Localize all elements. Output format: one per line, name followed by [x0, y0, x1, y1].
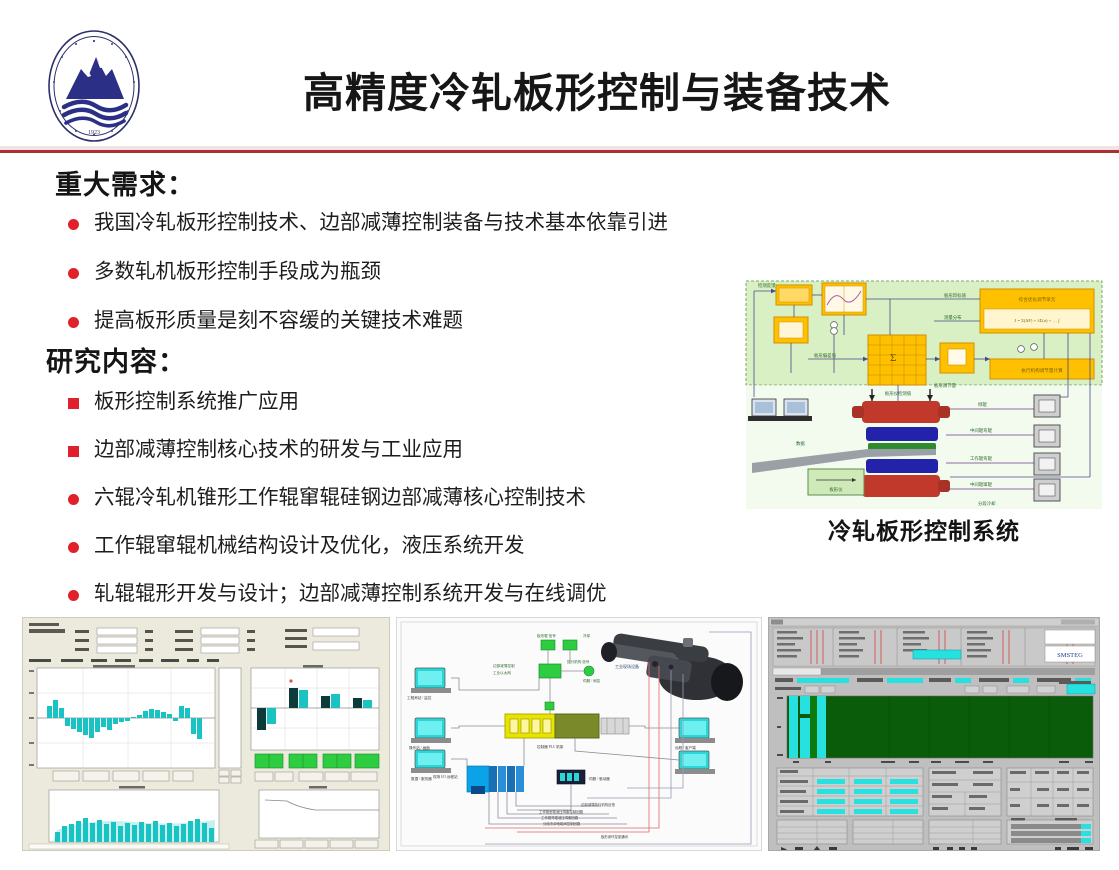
- svg-text:远程 / 客户端: 远程 / 客户端: [675, 745, 696, 750]
- svg-text:SMSTEG: SMSTEG: [1057, 652, 1083, 659]
- page-title: 高精度冷轧板形控制与装备技术: [272, 60, 922, 126]
- list-item: 工作辊窜辊机械结构设计及优化，液压系统开发: [60, 536, 607, 557]
- svg-text:控制器 PLC 机架: 控制器 PLC 机架: [537, 744, 564, 749]
- edge-drop-control-scada-panel-screenshot: SMSTEG: [768, 617, 1100, 851]
- list-item: 轧辊辊形开发与设计；边部减薄控制系统开发与在线调优: [60, 584, 607, 605]
- list-item-label: 边部减薄控制核心技术的研发与工业应用: [94, 438, 463, 461]
- svg-text:分段冷却: 分段冷却: [978, 500, 996, 507]
- list-item-label: 板形控制系统推广应用: [94, 390, 299, 413]
- bullet-round-icon: [68, 590, 79, 601]
- svg-text:板形仪: 板形仪: [829, 486, 843, 493]
- svg-text:数据: 数据: [796, 440, 805, 447]
- svg-text:工程师站 / 监控: 工程师站 / 监控: [407, 695, 432, 700]
- major-need-list: 我国冷轧板形控制技术、边部减薄控制装备与技术基本依靠引进 多数轧机板形控制手段成…: [60, 213, 668, 360]
- list-item: 边部减薄控制核心技术的研发与工业应用: [60, 440, 607, 461]
- svg-text:检测反馈: 检测反馈: [758, 282, 776, 289]
- svg-text:执行机构 信号: 执行机构 信号: [567, 659, 590, 664]
- svg-text:边部减薄控制: 边部减薄控制: [493, 663, 515, 668]
- svg-text:板形目标值: 板形目标值: [944, 292, 967, 299]
- list-item: 多数轧机板形控制手段成为瓶颈: [60, 262, 668, 283]
- svg-text:冷却: 冷却: [583, 633, 591, 638]
- header-divider: [0, 150, 1119, 153]
- svg-text:伺服 / 阀控: 伺服 / 阀控: [583, 678, 601, 683]
- northeastern-university-emblem-icon: 1923: [36, 27, 152, 145]
- svg-text:综合优化调节单元: 综合优化调节单元: [1019, 296, 1056, 303]
- diagram-caption: 冷轧板形控制系统: [738, 512, 1110, 546]
- section-heading-research-content: 研究内容：: [46, 340, 186, 379]
- svg-text:工作辊窜辊液压伺服控制回路: 工作辊窜辊液压伺服控制回路: [539, 809, 584, 814]
- list-item: 六辊冷轧机锥形工作辊窜辊硅钢边部减薄核心控制技术: [60, 488, 607, 509]
- bullet-round-icon: [68, 219, 79, 230]
- list-item: 板形控制系统推广应用: [60, 392, 607, 413]
- bullet-round-icon: [68, 542, 79, 553]
- bullet-round-icon: [68, 494, 79, 505]
- slide-root: 1923 高精度冷轧板形控制与装备技术 重大需求： 我国冷轧板形控制技术、边部减…: [0, 0, 1119, 870]
- svg-text:执行机构调节量计算: 执行机构调节量计算: [1021, 367, 1063, 374]
- list-item: 我国冷轧板形控制技术、边部减薄控制装备与技术基本依靠引进: [60, 213, 668, 234]
- bullet-square-icon: [68, 398, 79, 409]
- list-item-label: 多数轧机板形控制手段成为瓶颈: [94, 260, 381, 283]
- list-item-label: 轧辊辊形开发与设计；边部减薄控制系统开发与在线调优: [94, 582, 607, 605]
- bullet-square-icon: [68, 446, 79, 457]
- bullet-round-icon: [68, 268, 79, 279]
- svg-text:工作辊弯辊: 工作辊弯辊: [970, 455, 993, 462]
- svg-text:中间辊弯辊: 中间辊弯辊: [970, 427, 993, 434]
- svg-text:操作站 / 画面: 操作站 / 画面: [409, 745, 430, 750]
- svg-text:倾辊: 倾辊: [978, 401, 987, 408]
- bullet-round-icon: [68, 317, 79, 328]
- svg-text:数据 / 服务器: 数据 / 服务器: [411, 776, 432, 781]
- research-content-list: 板形控制系统推广应用 边部减薄控制核心技术的研发与工业应用 六辊冷轧机锥形工作辊…: [60, 392, 607, 632]
- shape-measurement-hmi-screenshot: [22, 617, 390, 851]
- svg-text:1923: 1923: [88, 130, 100, 136]
- svg-text:边部减薄执行机构反馈: 边部减薄执行机构反馈: [581, 802, 616, 807]
- svg-text:板形调节量: 板形调节量: [934, 382, 957, 389]
- svg-text:测量分布: 测量分布: [944, 314, 962, 321]
- list-item-label: 我国冷轧板形控制技术、边部减薄控制装备与技术基本依靠引进: [94, 211, 668, 234]
- list-item-label: 六辊冷轧机锥形工作辊窜辊硅钢边部减薄核心控制技术: [94, 486, 586, 509]
- svg-text:Σ: Σ: [890, 352, 896, 364]
- svg-text:中间辊窜辊: 中间辊窜辊: [970, 481, 993, 488]
- svg-text:工业现场设备: 工业现场设备: [615, 663, 639, 669]
- svg-text:现场 I/O 远程站: 现场 I/O 远程站: [433, 774, 458, 779]
- svg-text:板形仪检测值: 板形仪检测值: [885, 390, 912, 397]
- list-item-label: 提高板形质量是刻不容缓的关键技术难题: [94, 309, 463, 332]
- svg-text:工作辊弯辊液压伺服回路: 工作辊弯辊液压伺服回路: [541, 815, 579, 820]
- control-system-network-diagram-screenshot: 工业现场设备 工程师站 / 监控 操作站 / 画面 数据 / 服务器: [396, 617, 762, 851]
- cold-rolling-shape-control-system-diagram: Σ 综合优化调节单元 J = Σ(ΔF) + λΣ(u) + … ∫ 执行机构调…: [738, 277, 1110, 512]
- svg-text:伺服 / 驱动器: 伺服 / 驱动器: [589, 776, 610, 781]
- slide-header: 1923 高精度冷轧板形控制与装备技术: [0, 0, 1119, 152]
- svg-text:板形辊 信号: 板形辊 信号: [537, 633, 556, 638]
- section-heading-major-need: 重大需求：: [55, 163, 195, 202]
- svg-text:板形偏差值: 板形偏差值: [814, 352, 837, 359]
- svg-text:板形闭环控制通讯: 板形闭环控制通讯: [601, 834, 629, 839]
- svg-text:分段冷却电磁阀控制回路: 分段冷却电磁阀控制回路: [543, 821, 581, 826]
- svg-text:工业以太网: 工业以太网: [493, 670, 511, 675]
- list-item-label: 工作辊窜辊机械结构设计及优化，液压系统开发: [94, 534, 525, 557]
- list-item: 提高板形质量是刻不容缓的关键技术难题: [60, 311, 668, 332]
